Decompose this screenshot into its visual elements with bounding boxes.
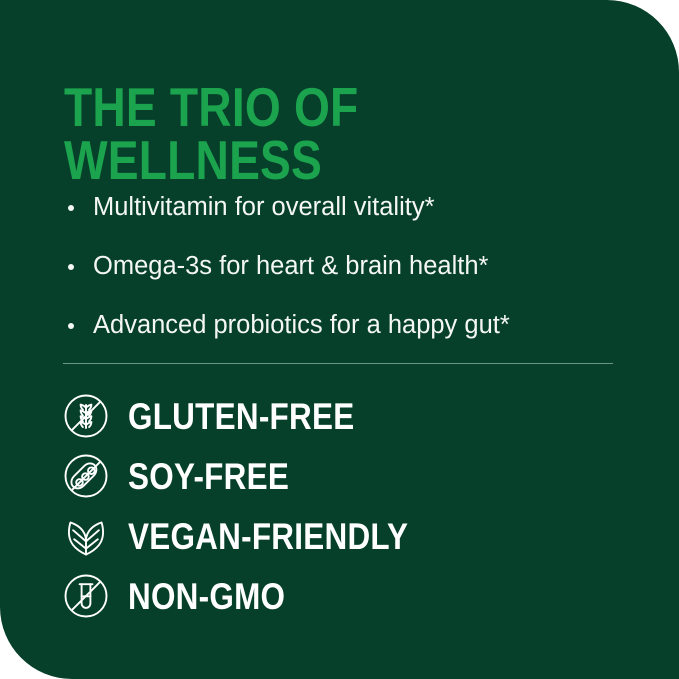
badge-label: NON-GMO — [128, 578, 285, 615]
badge-row: GLUTEN-FREE — [58, 386, 618, 446]
soy-free-icon — [58, 448, 114, 504]
list-item: Omega-3s for heart & brain health* — [64, 251, 644, 283]
badge-label: GLUTEN-FREE — [128, 398, 354, 435]
gluten-free-icon — [58, 388, 114, 444]
list-item-label: Advanced probiotics for a happy gut* — [93, 311, 510, 339]
page-title: THE TRIO OF WELLNESS — [64, 81, 425, 188]
badge-row: NON-GMO — [58, 566, 618, 626]
list-item-label: Multivitamin for overall vitality* — [93, 193, 435, 221]
benefits-list: Multivitamin for overall vitality* Omega… — [64, 192, 644, 342]
list-item: Advanced probiotics for a happy gut* — [64, 310, 644, 342]
certification-badge-list: GLUTEN-FREE SOY-FREE — [58, 386, 618, 626]
badge-row: VEGAN-FRIENDLY — [58, 506, 618, 566]
badge-label: VEGAN-FRIENDLY — [128, 518, 408, 555]
non-gmo-icon — [58, 568, 114, 624]
badge-row: SOY-FREE — [58, 446, 618, 506]
section-divider — [63, 363, 613, 364]
list-item: Multivitamin for overall vitality* — [64, 192, 644, 224]
badge-label: SOY-FREE — [128, 458, 289, 495]
vegan-friendly-icon — [58, 508, 114, 564]
bullet-dot-icon — [68, 323, 74, 329]
list-item-label: Omega-3s for heart & brain health* — [93, 252, 488, 280]
bullet-dot-icon — [68, 205, 74, 211]
bullet-dot-icon — [68, 264, 74, 270]
product-benefits-panel: THE TRIO OF WELLNESS Multivitamin for ov… — [0, 0, 679, 679]
